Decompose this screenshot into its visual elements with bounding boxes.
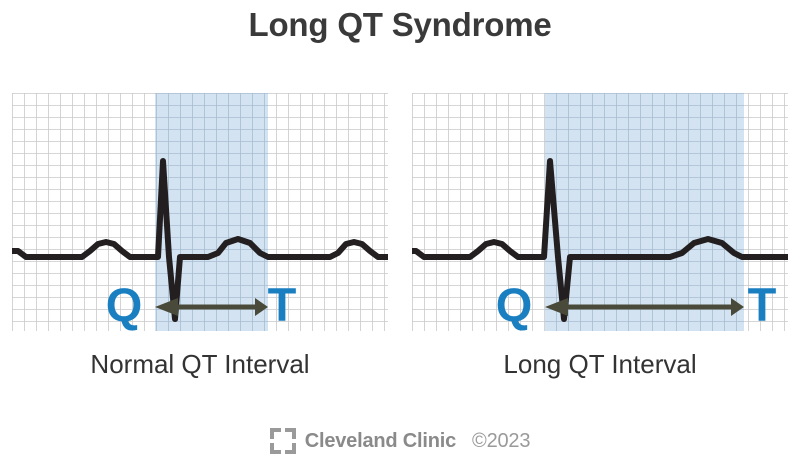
cleveland-clinic-logo-icon: [270, 428, 296, 454]
q-label-normal: Q: [106, 278, 143, 331]
footer: Cleveland Clinic ©2023: [0, 428, 800, 454]
ecg-panel-long: Q T: [412, 93, 788, 331]
copyright-notice: ©2023: [472, 430, 530, 453]
qt-interval-highlight: [545, 93, 744, 331]
ecg-strip-normal: Q T: [12, 93, 388, 331]
brand-name: Cleveland Clinic: [305, 430, 456, 453]
ecg-panel-normal: Q T: [12, 93, 388, 331]
page-title: Long QT Syndrome: [0, 6, 800, 44]
q-label-long: Q: [496, 278, 533, 331]
caption-normal-qt-interval: Normal QT Interval: [12, 349, 388, 380]
t-label-normal: T: [268, 278, 297, 331]
t-label-long: T: [748, 278, 777, 331]
caption-long-qt-interval: Long QT Interval: [412, 349, 788, 380]
ecg-strip-long: Q T: [412, 93, 788, 331]
